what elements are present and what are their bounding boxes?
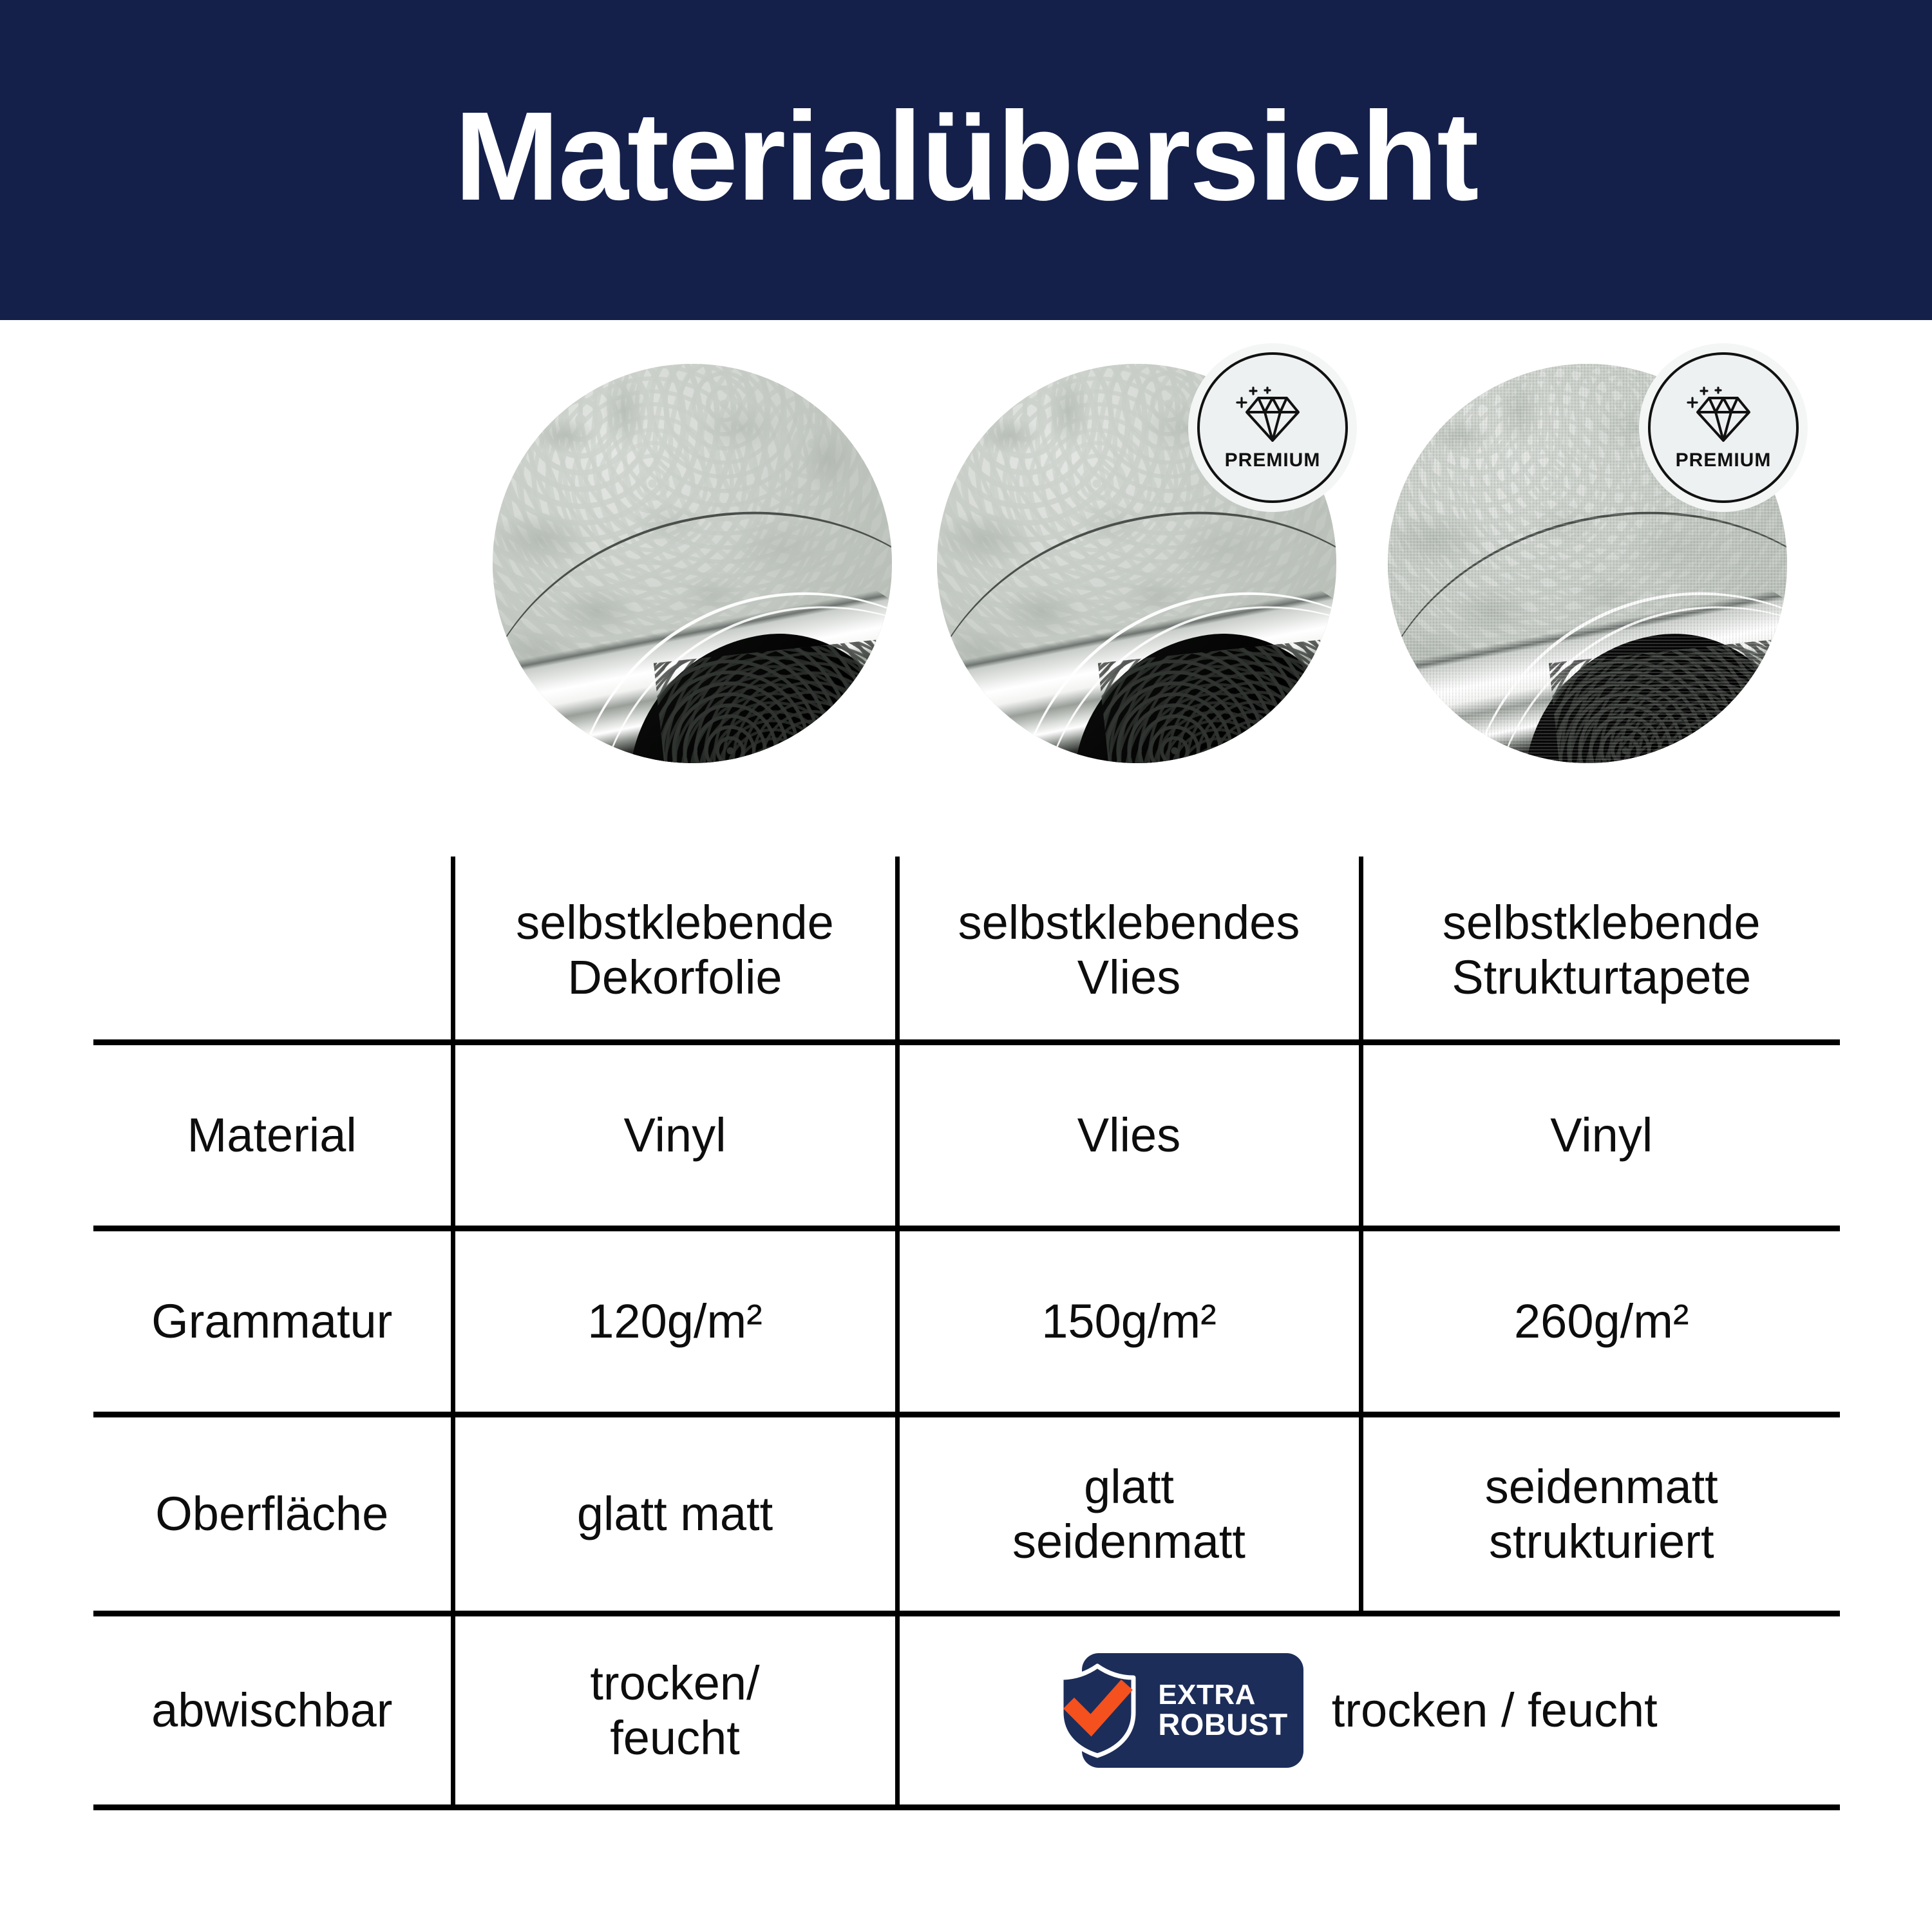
row-label-material: Material xyxy=(93,1043,453,1229)
row-label-oberflaeche: Oberfläche xyxy=(93,1415,453,1614)
cell-abwischbar-combined: EXTRA ROBUST trocken / feucht xyxy=(897,1614,1840,1808)
cell-material-strukturtapete: Vinyl xyxy=(1361,1043,1840,1229)
premium-badge: PREMIUM xyxy=(1197,352,1348,503)
premium-badge: PREMIUM xyxy=(1648,352,1799,503)
cell-oberflaeche-vlies: glatt seidenmatt xyxy=(897,1415,1361,1614)
table-row-material: Material Vinyl Vlies Vinyl xyxy=(93,1043,1840,1229)
premium-badge-label: PREMIUM xyxy=(1676,450,1772,471)
swatch-image-dekorfolie xyxy=(493,364,892,763)
column-header-strukturtapete: selbstklebende Strukturtapete xyxy=(1361,857,1840,1043)
cell-material-vlies: Vlies xyxy=(897,1043,1361,1229)
robust-cell-inner: EXTRA ROBUST trocken / feucht xyxy=(906,1653,1834,1768)
row-label-abwischbar: abwischbar xyxy=(93,1614,453,1808)
table-row-oberflaeche: Oberfläche glatt matt glatt seidenmatt s… xyxy=(93,1415,1840,1614)
cell-abwischbar-strukturtapete: trocken / feucht xyxy=(1332,1683,1658,1738)
cell-grammatur-vlies: 150g/m² xyxy=(897,1229,1361,1415)
table-corner-cell xyxy=(93,857,453,1043)
table-header-row: selbstklebende Dekorfolie selbstklebende… xyxy=(93,857,1840,1043)
swatch-item-strukturtapete[interactable]: PREMIUM xyxy=(1388,364,1787,763)
cell-material-dekorfolie: Vinyl xyxy=(453,1043,897,1229)
swatch-item-vlies[interactable]: PREMIUM xyxy=(937,364,1336,763)
diamond-icon xyxy=(1234,384,1311,446)
cell-abwischbar-dekorfolie: trocken/ feucht xyxy=(453,1614,897,1808)
cell-oberflaeche-dekorfolie: glatt matt xyxy=(453,1415,897,1614)
material-swatch-strip: PREMIUM xyxy=(0,348,1932,773)
diamond-icon xyxy=(1685,384,1762,446)
cell-oberflaeche-strukturtapete: seidenmatt strukturiert xyxy=(1361,1415,1840,1614)
badge-line-extra: EXTRA xyxy=(1158,1681,1287,1710)
swatch-item-dekorfolie[interactable] xyxy=(493,364,892,763)
extra-robust-text: EXTRA ROBUST xyxy=(1158,1681,1287,1741)
material-comparison-table: selbstklebende Dekorfolie selbstklebende… xyxy=(93,857,1840,1810)
column-header-dekorfolie: selbstklebende Dekorfolie xyxy=(453,857,897,1043)
cell-grammatur-strukturtapete: 260g/m² xyxy=(1361,1229,1840,1415)
shield-check-icon xyxy=(1055,1662,1140,1770)
premium-badge-label: PREMIUM xyxy=(1225,450,1321,471)
cell-grammatur-dekorfolie: 120g/m² xyxy=(453,1229,897,1415)
row-label-grammatur: Grammatur xyxy=(93,1229,453,1415)
extra-robust-badge: EXTRA ROBUST xyxy=(1082,1653,1303,1768)
table-row-abwischbar: abwischbar trocken/ feucht xyxy=(93,1614,1840,1808)
badge-line-robust: ROBUST xyxy=(1158,1709,1287,1740)
page-title: Materialübersicht xyxy=(455,93,1478,220)
column-header-vlies: selbstklebendes Vlies xyxy=(897,857,1361,1043)
page-header: Materialübersicht xyxy=(0,0,1932,320)
table-row-grammatur: Grammatur 120g/m² 150g/m² 260g/m² xyxy=(93,1229,1840,1415)
